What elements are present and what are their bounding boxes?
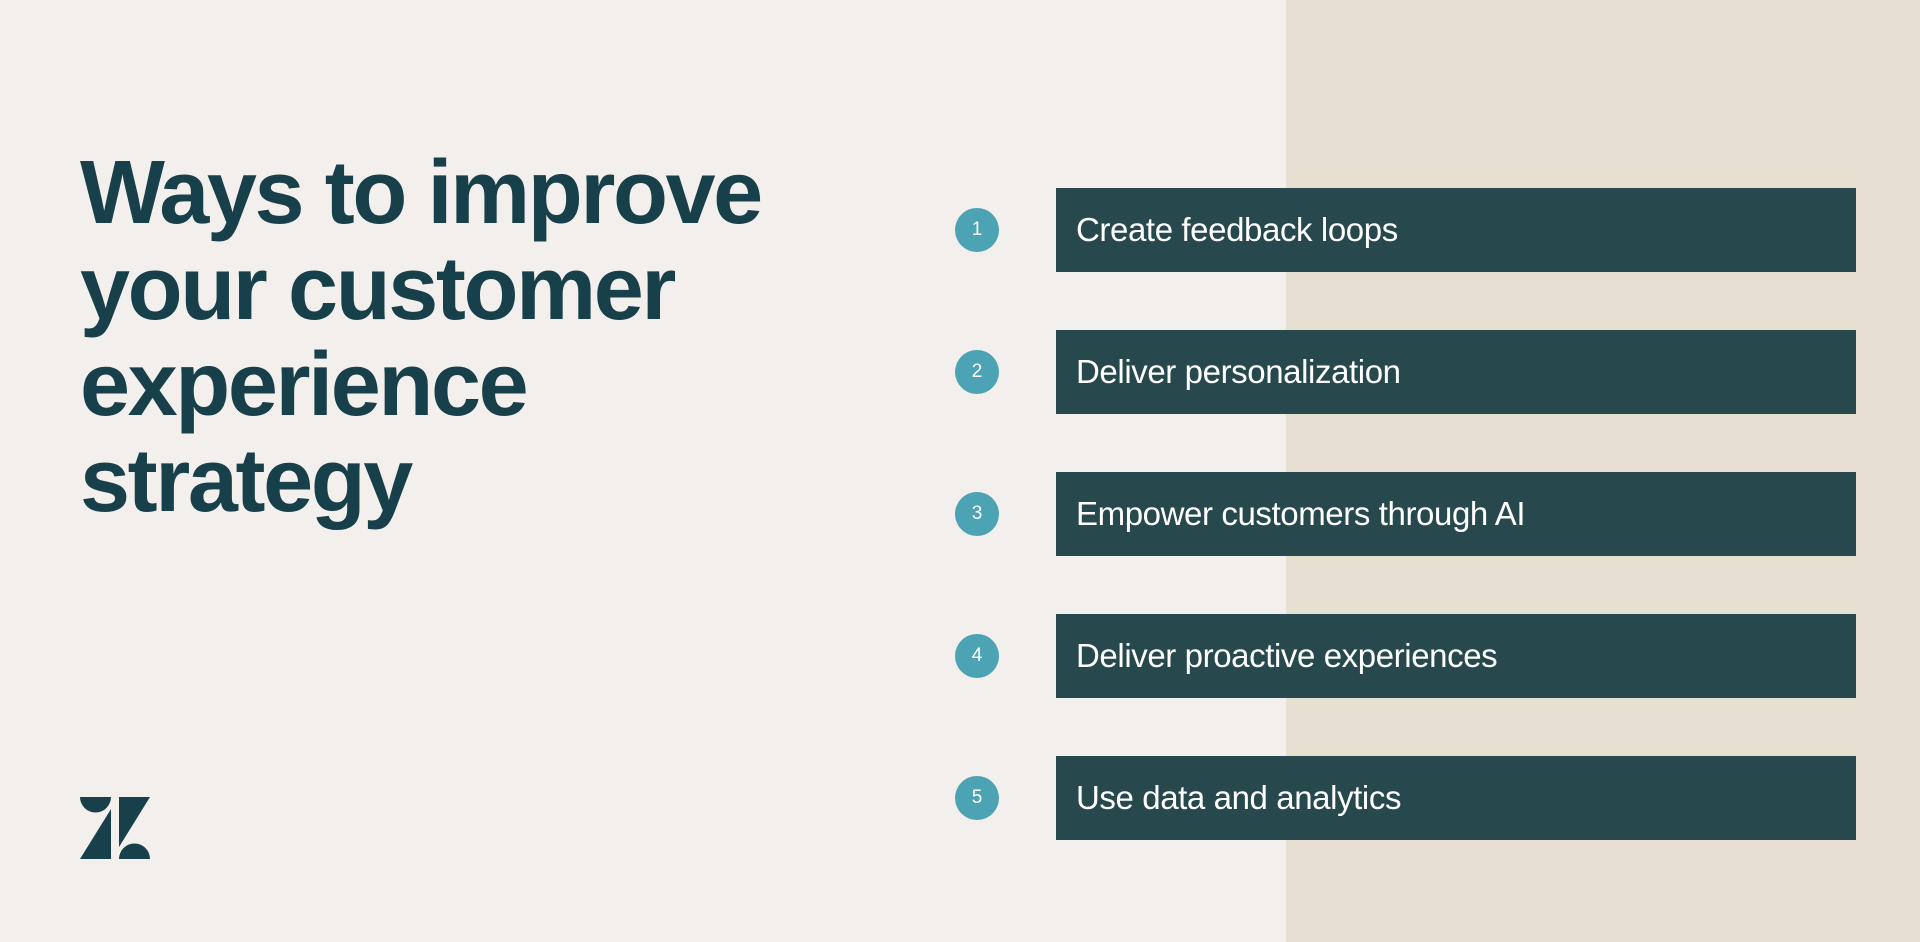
step-label: Empower customers through AI xyxy=(1076,495,1525,533)
step-label: Create feedback loops xyxy=(1076,211,1398,249)
slide-canvas: Ways to improve your customer experience… xyxy=(0,0,1920,942)
step-label: Deliver proactive experiences xyxy=(1076,637,1497,675)
step-bar[interactable]: Deliver proactive experiences xyxy=(1056,614,1856,698)
step-number-badge: 5 xyxy=(955,776,999,820)
step-bar[interactable]: Create feedback loops xyxy=(1056,188,1856,272)
step-number-badge: 2 xyxy=(955,350,999,394)
list-item[interactable]: 5 Use data and analytics xyxy=(0,756,1920,840)
step-bar[interactable]: Empower customers through AI xyxy=(1056,472,1856,556)
step-label: Deliver personalization xyxy=(1076,353,1401,391)
list-item[interactable]: 2 Deliver personalization xyxy=(0,330,1920,414)
step-number-badge: 4 xyxy=(955,634,999,678)
step-number-badge: 3 xyxy=(955,492,999,536)
step-bar[interactable]: Deliver personalization xyxy=(1056,330,1856,414)
step-label: Use data and analytics xyxy=(1076,779,1401,817)
list-item[interactable]: 1 Create feedback loops xyxy=(0,188,1920,272)
list-item[interactable]: 3 Empower customers through AI xyxy=(0,472,1920,556)
list-item[interactable]: 4 Deliver proactive experiences xyxy=(0,614,1920,698)
step-number-badge: 1 xyxy=(955,208,999,252)
step-bar[interactable]: Use data and analytics xyxy=(1056,756,1856,840)
